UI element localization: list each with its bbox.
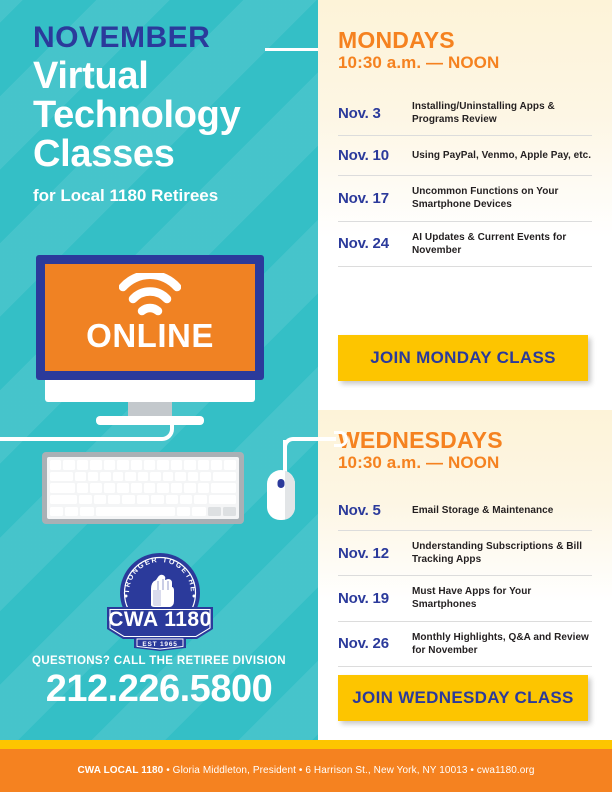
footer-text: CWA LOCAL 1180 • Gloria Middleton, Presi…	[77, 765, 534, 776]
table-row[interactable]: Nov. 17 Uncommon Functions on Your Smart…	[338, 176, 592, 221]
logo-name: CWA 1180	[108, 608, 212, 631]
footer-org-name: CWA LOCAL 1180	[77, 765, 163, 776]
keyboard-row	[50, 495, 236, 505]
keyboard-row	[50, 507, 236, 517]
class-date: Nov. 10	[338, 147, 412, 164]
keyboard-keys	[47, 457, 239, 519]
desktop-monitor-icon: ONLINE	[36, 255, 264, 430]
class-description: AI Updates & Current Events for November	[412, 231, 592, 257]
keyboard-row	[50, 460, 236, 470]
class-description: Must Have Apps for Your Smartphones	[412, 585, 592, 611]
table-row[interactable]: Nov. 10 Using PayPal, Venmo, Apple Pay, …	[338, 136, 592, 176]
schedule-column: MONDAYS 10:30 a.m. — NOON Nov. 3 Install…	[318, 0, 612, 740]
computer-mouse-icon	[267, 470, 295, 520]
class-date: Nov. 26	[338, 635, 412, 652]
monitor-cable	[0, 437, 150, 441]
mouse-wheel	[278, 479, 285, 488]
join-monday-class-button[interactable]: JOIN MONDAY CLASS	[338, 335, 588, 381]
contact-phone-number[interactable]: 212.226.5800	[0, 670, 318, 710]
table-row[interactable]: Nov. 24 AI Updates & Current Events for …	[338, 222, 592, 267]
table-row[interactable]: Nov. 12 Understanding Subscriptions & Bi…	[338, 531, 592, 576]
screen-label: ONLINE	[45, 317, 255, 355]
keyboard-row	[50, 483, 236, 493]
mouse-shading	[285, 470, 295, 520]
monitor-screen: ONLINE	[45, 264, 255, 371]
session-time: 10:30 a.m. — NOON	[338, 54, 592, 73]
title-line-1: Virtual	[33, 57, 313, 96]
footer-yellow-strip	[0, 740, 612, 749]
class-list-mondays: Nov. 3 Installing/Uninstalling Apps & Pr…	[338, 91, 592, 267]
table-row[interactable]: Nov. 19 Must Have Apps for Your Smartpho…	[338, 576, 592, 621]
keyboard-icon	[42, 452, 244, 524]
title-divider-rule	[265, 48, 318, 51]
session-time: 10:30 a.m. — NOON	[338, 454, 592, 473]
class-list-wednesdays: Nov. 5 Email Storage & Maintenance Nov. …	[338, 491, 592, 667]
monitor-base	[45, 380, 255, 402]
title-line-2: Technology	[33, 96, 313, 135]
session-day-title: MONDAYS	[338, 28, 592, 52]
session-mondays: MONDAYS 10:30 a.m. — NOON Nov. 3 Install…	[318, 0, 612, 410]
subtitle: for Local 1180 Retirees	[33, 186, 313, 206]
session-day-title: WEDNESDAYS	[338, 428, 592, 452]
class-date: Nov. 3	[338, 105, 412, 122]
class-date: Nov. 5	[338, 502, 412, 519]
session-wednesdays: WEDNESDAYS 10:30 a.m. — NOON Nov. 5 Emai…	[318, 410, 612, 740]
table-row[interactable]: Nov. 3 Installing/Uninstalling Apps & Pr…	[338, 91, 592, 136]
monitor-bezel: ONLINE	[36, 255, 264, 380]
mouse-cable-horizontal	[303, 437, 336, 441]
class-description: Installing/Uninstalling Apps & Programs …	[412, 100, 592, 126]
class-description: Using PayPal, Venmo, Apple Pay, etc.	[412, 149, 591, 162]
class-description: Uncommon Functions on Your Smartphone De…	[412, 185, 592, 211]
mouse-cable-vertical	[283, 440, 287, 474]
monitor-cable-bend	[148, 424, 174, 441]
contact-block: QUESTIONS? CALL THE RETIREE DIVISION 212…	[0, 655, 318, 710]
class-description: Email Storage & Maintenance	[412, 504, 553, 517]
logo-established: EST 1965	[142, 641, 177, 648]
table-row[interactable]: Nov. 5 Email Storage & Maintenance	[338, 491, 592, 531]
class-date: Nov. 12	[338, 545, 412, 562]
class-description: Monthly Highlights, Q&A and Review for N…	[412, 631, 592, 657]
keyboard-row	[50, 472, 236, 482]
class-description: Understanding Subscriptions & Bill Track…	[412, 540, 592, 566]
class-date: Nov. 24	[338, 235, 412, 252]
class-date: Nov. 17	[338, 190, 412, 207]
title-line-3: Classes	[33, 135, 313, 174]
table-row[interactable]: Nov. 26 Monthly Highlights, Q&A and Revi…	[338, 622, 592, 667]
wifi-icon	[119, 273, 181, 317]
join-wednesday-class-button[interactable]: JOIN WEDNESDAY CLASS	[338, 675, 588, 721]
left-teal-panel: NOVEMBER Virtual Technology Classes for …	[0, 0, 318, 740]
class-date: Nov. 19	[338, 590, 412, 607]
flyer-page: NOVEMBER Virtual Technology Classes for …	[0, 0, 612, 792]
footer-bar: CWA LOCAL 1180 • Gloria Middleton, Presi…	[0, 749, 612, 792]
cwa-1180-logo: STRONGER TOGETHER CWA 1180 EST 1965	[101, 549, 219, 654]
footer-details: • Gloria Middleton, President • 6 Harris…	[163, 765, 534, 776]
contact-label: QUESTIONS? CALL THE RETIREE DIVISION	[0, 655, 318, 667]
